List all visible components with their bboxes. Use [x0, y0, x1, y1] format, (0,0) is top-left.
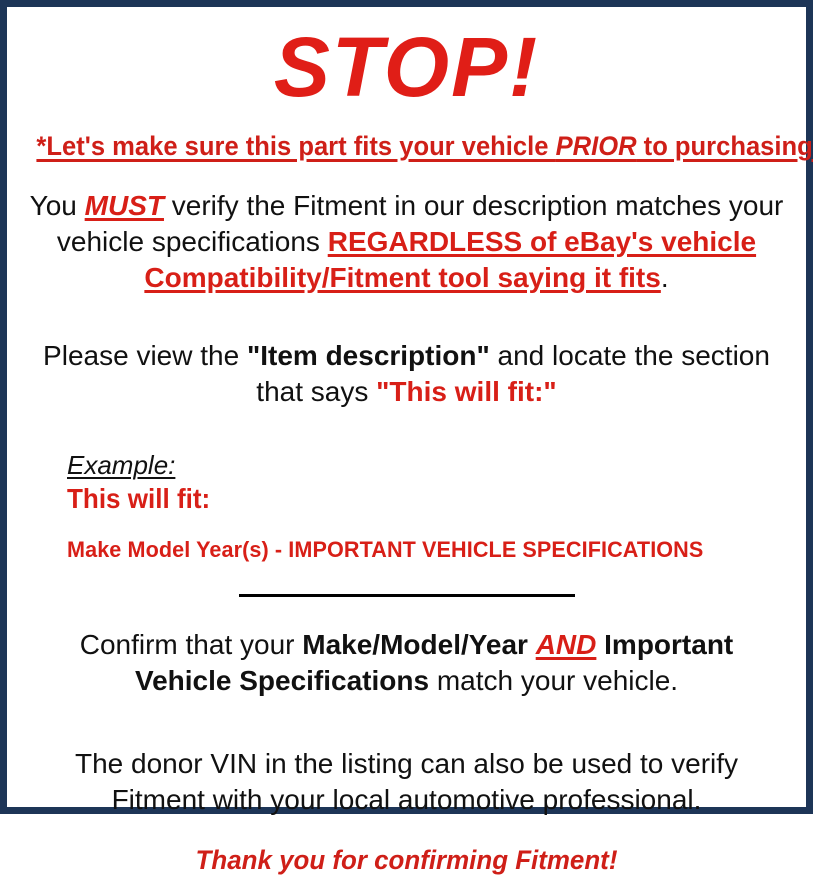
- confirm-bold-make-model-year: Make/Model/Year: [302, 629, 535, 660]
- confirm-part1: Confirm that your: [80, 629, 303, 660]
- item-description-label: "Item description": [247, 340, 490, 371]
- itemdesc-part1: Please view the: [43, 340, 247, 371]
- thank-you-message: Thank you for confirming Fitment!: [38, 844, 774, 876]
- subtitle-prefix: *Let's make sure this part fits your veh…: [36, 131, 555, 161]
- page-title: STOP!: [23, 19, 790, 115]
- paragraph-confirm: Confirm that your Make/Model/Year AND Im…: [23, 627, 790, 699]
- fitment-notice-card: STOP! *Let's make sure this part fits yo…: [0, 0, 813, 814]
- confirm-and-emphasis: AND: [536, 629, 597, 660]
- subtitle-warning: *Let's make sure this part fits your veh…: [36, 131, 776, 161]
- divider: [239, 594, 575, 597]
- paragraph-donor-vin: The donor VIN in the listing can also be…: [23, 746, 790, 818]
- subtitle-emphasis: PRIOR: [556, 131, 637, 161]
- example-block: Example: This will fit: Make Model Year(…: [23, 450, 790, 563]
- confirm-part2: match your vehicle.: [429, 665, 678, 696]
- subtitle-suffix: to purchasing*: [637, 131, 813, 161]
- must-text-part3: .: [661, 262, 669, 293]
- this-will-fit-quote: "This will fit:": [376, 376, 557, 407]
- paragraph-item-description: Please view the "Item description" and l…: [23, 338, 790, 410]
- must-text-part1: You: [30, 190, 85, 221]
- example-spec-line: Make Model Year(s) - IMPORTANT VEHICLE S…: [67, 537, 761, 563]
- example-this-will-fit: This will fit:: [67, 483, 739, 515]
- example-label: Example:: [67, 450, 175, 480]
- paragraph-must-verify: You MUST verify the Fitment in our descr…: [23, 188, 790, 296]
- must-emphasis: MUST: [85, 190, 164, 221]
